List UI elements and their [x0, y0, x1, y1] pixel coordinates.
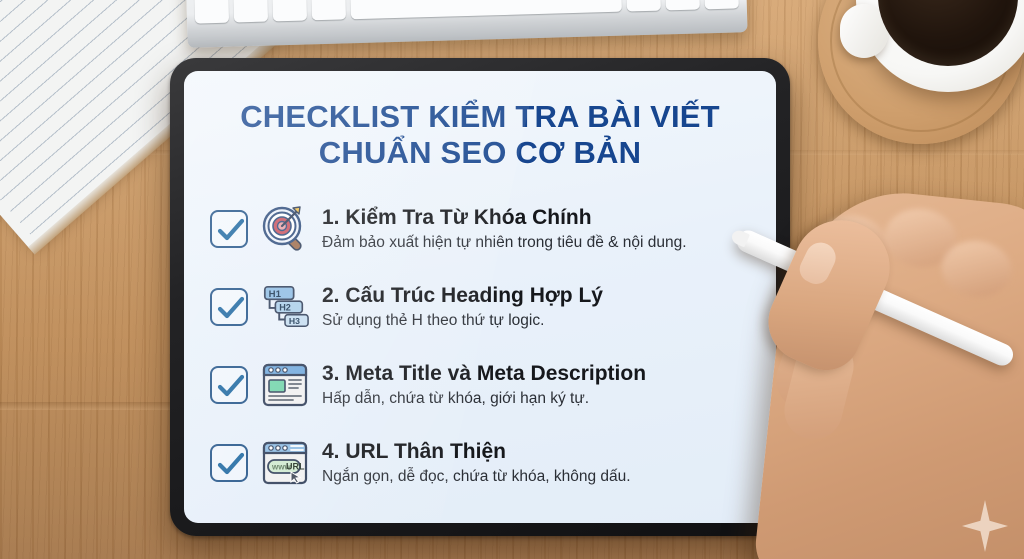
- desk-scene: CHECKLIST KIỂM TRA BÀI VIẾT CHUẨN SEO CƠ…: [0, 0, 1024, 559]
- list-item-title: 1. Kiểm Tra Từ Khóa Chính: [322, 206, 687, 231]
- keyboard-key[interactable]: [272, 0, 307, 21]
- keyboard-key[interactable]: [626, 0, 661, 12]
- keyboard-key[interactable]: [704, 0, 739, 9]
- page-title-line-2: CHUẨN SEO CƠ BẢN: [208, 135, 752, 171]
- keyboard-key[interactable]: [311, 0, 346, 20]
- list-item-text: 1. Kiểm Tra Từ Khóa Chính Đảm bảo xuất h…: [322, 206, 687, 253]
- list-item-title: 3. Meta Title và Meta Description: [322, 362, 646, 387]
- target-magnifier-icon: [260, 204, 310, 254]
- url-pill-label: URL: [286, 462, 305, 472]
- checklist: 1. Kiểm Tra Từ Khóa Chính Đảm bảo xuất h…: [184, 176, 776, 502]
- checkbox-checked[interactable]: [210, 288, 248, 326]
- checkbox-checked[interactable]: [210, 210, 248, 248]
- list-item-title: 4. URL Thân Thiện: [322, 440, 631, 465]
- list-item-subtitle: Đảm bảo xuất hiện tự nhiên trong tiêu đề…: [322, 233, 687, 253]
- keyboard-spacebar[interactable]: [350, 0, 622, 19]
- list-item-text: 3. Meta Title và Meta Description Hấp dẫ…: [322, 362, 646, 409]
- page-title: CHECKLIST KIỂM TRA BÀI VIẾT CHUẨN SEO CƠ…: [184, 71, 776, 176]
- browser-url-icon: www URL: [260, 438, 310, 488]
- heading-tag-label: H1: [269, 289, 282, 300]
- keyboard-key[interactable]: [194, 0, 229, 24]
- list-item-subtitle: Hấp dẫn, chứa từ khóa, giới hạn ký tự.: [322, 389, 646, 409]
- list-item[interactable]: 1. Kiểm Tra Từ Khóa Chính Đảm bảo xuất h…: [210, 190, 754, 268]
- list-item-subtitle: Sử dụng thẻ H theo thứ tự logic.: [322, 311, 603, 331]
- list-item[interactable]: 3. Meta Title và Meta Description Hấp dẫ…: [210, 346, 754, 424]
- tablet-screen[interactable]: CHECKLIST KIỂM TRA BÀI VIẾT CHUẨN SEO CƠ…: [184, 71, 776, 523]
- keyboard-bottom-row: [194, 0, 739, 24]
- list-item-subtitle: Ngắn gọn, dễ đọc, chứa từ khóa, không dấ…: [322, 467, 631, 487]
- checkbox-checked[interactable]: [210, 366, 248, 404]
- heading-tag-label: H2: [279, 303, 291, 313]
- check-icon: [217, 218, 245, 244]
- check-icon: [217, 296, 245, 322]
- check-icon: [217, 374, 245, 400]
- keyboard-key[interactable]: [665, 0, 700, 10]
- list-item-title: 2. Cấu Trúc Heading Hợp Lý: [322, 284, 603, 309]
- heading-tag-label: H3: [289, 316, 300, 326]
- check-icon: [217, 452, 245, 478]
- black-coffee: [878, 0, 1018, 66]
- list-item-text: 2. Cấu Trúc Heading Hợp Lý Sử dụng thẻ H…: [322, 284, 603, 331]
- list-item[interactable]: www URL 4. URL Thân Thiện Ngắn gọn, dễ đ…: [210, 424, 754, 502]
- tablet-device[interactable]: CHECKLIST KIỂM TRA BÀI VIẾT CHUẨN SEO CƠ…: [170, 58, 790, 536]
- list-item-text: 4. URL Thân Thiện Ngắn gọn, dễ đọc, chứa…: [322, 440, 631, 487]
- heading-hierarchy-icon: H1 H2 H3: [260, 282, 310, 332]
- keyboard-key[interactable]: [233, 0, 268, 22]
- list-item[interactable]: H1 H2 H3 2. Cấu Trúc Heading Hợp Lý Sử d…: [210, 268, 754, 346]
- checkbox-checked[interactable]: [210, 444, 248, 482]
- browser-meta-icon: [260, 360, 310, 410]
- page-title-line-1: CHECKLIST KIỂM TRA BÀI VIẾT: [240, 99, 720, 134]
